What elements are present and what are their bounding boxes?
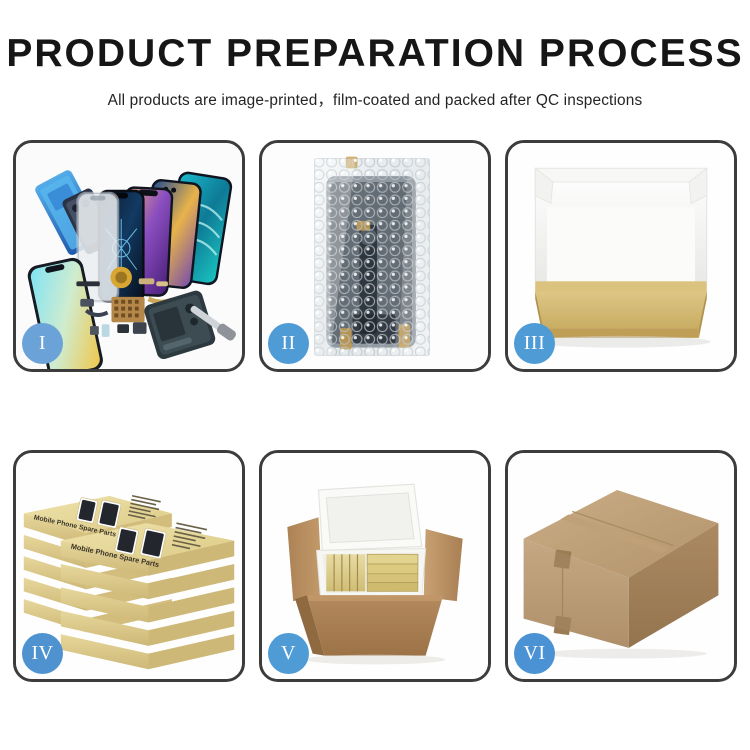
process-step-panel-5: V xyxy=(259,450,491,682)
process-step-panel-6: VI xyxy=(505,450,737,682)
step-badge-4: IV xyxy=(22,633,63,674)
step-badge-1: I xyxy=(22,323,63,364)
step-badge-5: V xyxy=(268,633,309,674)
page-title: PRODUCT PREPARATION PROCESS xyxy=(0,34,750,75)
process-grid: I xyxy=(13,140,737,682)
header: PRODUCT PREPARATION PROCESS All products… xyxy=(0,0,750,110)
process-step-panel-2: II xyxy=(259,140,491,372)
step-badge-3: III xyxy=(514,323,555,364)
page-subtitle: All products are image-printed，film-coat… xyxy=(0,88,750,110)
process-step-panel-3: III xyxy=(505,140,737,372)
process-step-panel-4: Mobile Phone Spare Parts Mo xyxy=(13,450,245,682)
step-badge-6: VI xyxy=(514,633,555,674)
process-step-panel-1: I xyxy=(13,140,245,372)
step-badge-2: II xyxy=(268,323,309,364)
